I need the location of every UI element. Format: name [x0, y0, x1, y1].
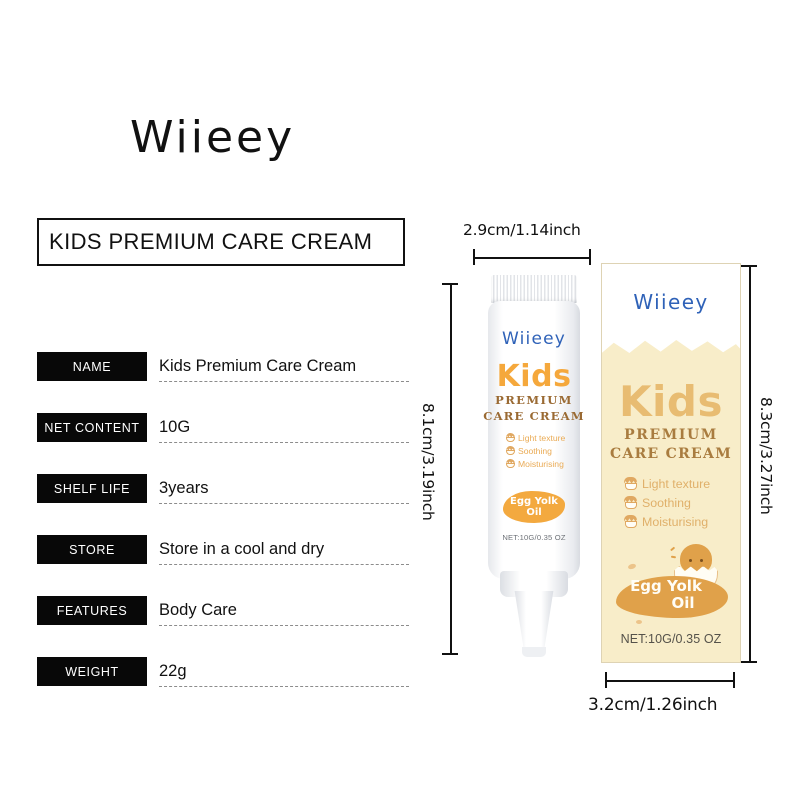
product-tube: Wiieey Kids PREMIUM CARE CREAM Light tex…	[482, 275, 586, 650]
spec-value-name: Kids Premium Care Cream	[159, 350, 409, 382]
spec-divider	[159, 564, 409, 565]
egg-icon	[624, 496, 637, 509]
table-row: SHELF LIFE 3years	[37, 474, 412, 535]
box-feature-label: Light texture	[642, 477, 710, 491]
spec-key-net-content: NET CONTENT	[37, 413, 147, 442]
dimension-box-height-label: 8.3cm/3.27inch	[757, 397, 775, 515]
table-row: NAME Kids Premium Care Cream	[37, 352, 412, 413]
tube-badge-line1: Egg Yolk	[510, 496, 558, 507]
mascot-sparkle	[671, 556, 676, 558]
dimension-cap	[741, 661, 757, 663]
dimension-cap	[605, 672, 607, 688]
tube-kids-text: Kids	[482, 359, 586, 394]
dimension-box-width-label: 3.2cm/1.26inch	[588, 695, 717, 715]
tube-premium-text: PREMIUM	[482, 393, 586, 407]
mascot-eye	[700, 559, 703, 562]
spec-divider	[159, 381, 409, 382]
spec-key-name: NAME	[37, 352, 147, 381]
tube-nozzle	[512, 591, 556, 653]
list-item: Soothing	[506, 444, 565, 457]
box-premium-text: PREMIUM	[602, 427, 740, 443]
spec-value-weight: 22g	[159, 655, 409, 687]
list-item: Soothing	[624, 493, 710, 512]
product-title-box: KIDS PREMIUM CARE CREAM	[37, 218, 405, 266]
egg-icon	[624, 477, 637, 490]
box-feature-label: Moisturising	[642, 515, 708, 529]
product-scene: 2.9cm/1.14inch 8.1cm/3.19inch 8.3cm/3.27…	[405, 215, 795, 740]
spec-value-features: Body Care	[159, 594, 409, 626]
box-feature-label: Soothing	[642, 496, 691, 510]
specification-table: NAME Kids Premium Care Cream NET CONTENT…	[37, 352, 412, 718]
table-row: NET CONTENT 10G	[37, 413, 412, 474]
spec-divider	[159, 442, 409, 443]
list-item: Light texture	[624, 474, 710, 493]
box-feature-list: Light texture Soothing Moisturising	[624, 474, 710, 531]
table-row: WEIGHT 22g	[37, 657, 412, 718]
egg-icon	[506, 446, 515, 455]
dimension-cap	[741, 265, 757, 267]
tube-feature-label: Moisturising	[518, 459, 564, 469]
box-care-cream-text: CARE CREAM	[602, 446, 740, 462]
dimension-tube-height-label: 8.1cm/3.19inch	[419, 403, 437, 521]
egg-icon	[506, 433, 515, 442]
box-decor-dot	[627, 563, 636, 570]
spec-divider	[159, 686, 409, 687]
box-badge-line2: Oil	[616, 595, 716, 612]
spec-key-store: STORE	[37, 535, 147, 564]
box-badge-text: Egg Yolk Oil	[616, 578, 716, 612]
page-title: KIDS PREMIUM CARE CREAM	[39, 229, 372, 255]
spec-divider	[159, 503, 409, 504]
tube-feature-label: Light texture	[518, 433, 565, 443]
product-infographic: Wiieey KIDS PREMIUM CARE CREAM NAME Kids…	[0, 0, 800, 800]
dimension-cap	[473, 249, 475, 265]
spec-value-net-content: 10G	[159, 411, 409, 443]
tube-brand-logo: Wiieey	[482, 329, 586, 349]
box-net-weight: NET:10G/0.35 OZ	[602, 632, 740, 646]
dimension-tube-width-line	[473, 257, 591, 259]
dimension-tube-height-line	[450, 283, 452, 655]
tube-feature-label: Soothing	[518, 446, 552, 456]
brand-logo: Wiieey	[130, 112, 295, 163]
spec-divider	[159, 625, 409, 626]
list-item: Light texture	[506, 431, 565, 444]
spec-value-store: Store in a cool and dry	[159, 533, 409, 565]
spec-key-features: FEATURES	[37, 596, 147, 625]
dimension-tube-width-label: 2.9cm/1.14inch	[463, 221, 581, 239]
spec-value-shelf-life: 3years	[159, 472, 409, 504]
box-kids-text: Kids	[602, 377, 740, 426]
box-decor-dot	[636, 620, 642, 624]
dimension-cap	[442, 283, 458, 285]
box-badge-line1: Egg Yolk	[616, 578, 716, 595]
egg-icon	[506, 459, 515, 468]
egg-icon	[624, 515, 637, 528]
table-row: FEATURES Body Care	[37, 596, 412, 657]
dimension-cap	[442, 653, 458, 655]
dimension-cap	[589, 249, 591, 265]
box-brand-logo: Wiieey	[602, 290, 740, 314]
list-item: Moisturising	[506, 457, 565, 470]
table-row: STORE Store in a cool and dry	[37, 535, 412, 596]
list-item: Moisturising	[624, 512, 710, 531]
spec-key-shelf-life: SHELF LIFE	[37, 474, 147, 503]
tube-care-cream-text: CARE CREAM	[482, 409, 586, 423]
tube-net-weight: NET:10G/0.35 OZ	[482, 533, 586, 542]
spec-key-weight: WEIGHT	[37, 657, 147, 686]
dimension-cap	[733, 672, 735, 688]
tube-badge-line2: Oil	[526, 507, 541, 518]
mascot-sparkle	[670, 547, 675, 551]
tube-cap	[491, 275, 577, 303]
tube-feature-list: Light texture Soothing Moisturising	[506, 431, 565, 470]
product-box: Wiieey Kids PREMIUM CARE CREAM Light tex…	[601, 263, 741, 663]
dimension-box-width-line	[605, 680, 735, 682]
mascot-eye	[689, 559, 692, 562]
dimension-box-height-line	[749, 265, 751, 663]
tube-nozzle-tip	[522, 647, 546, 657]
